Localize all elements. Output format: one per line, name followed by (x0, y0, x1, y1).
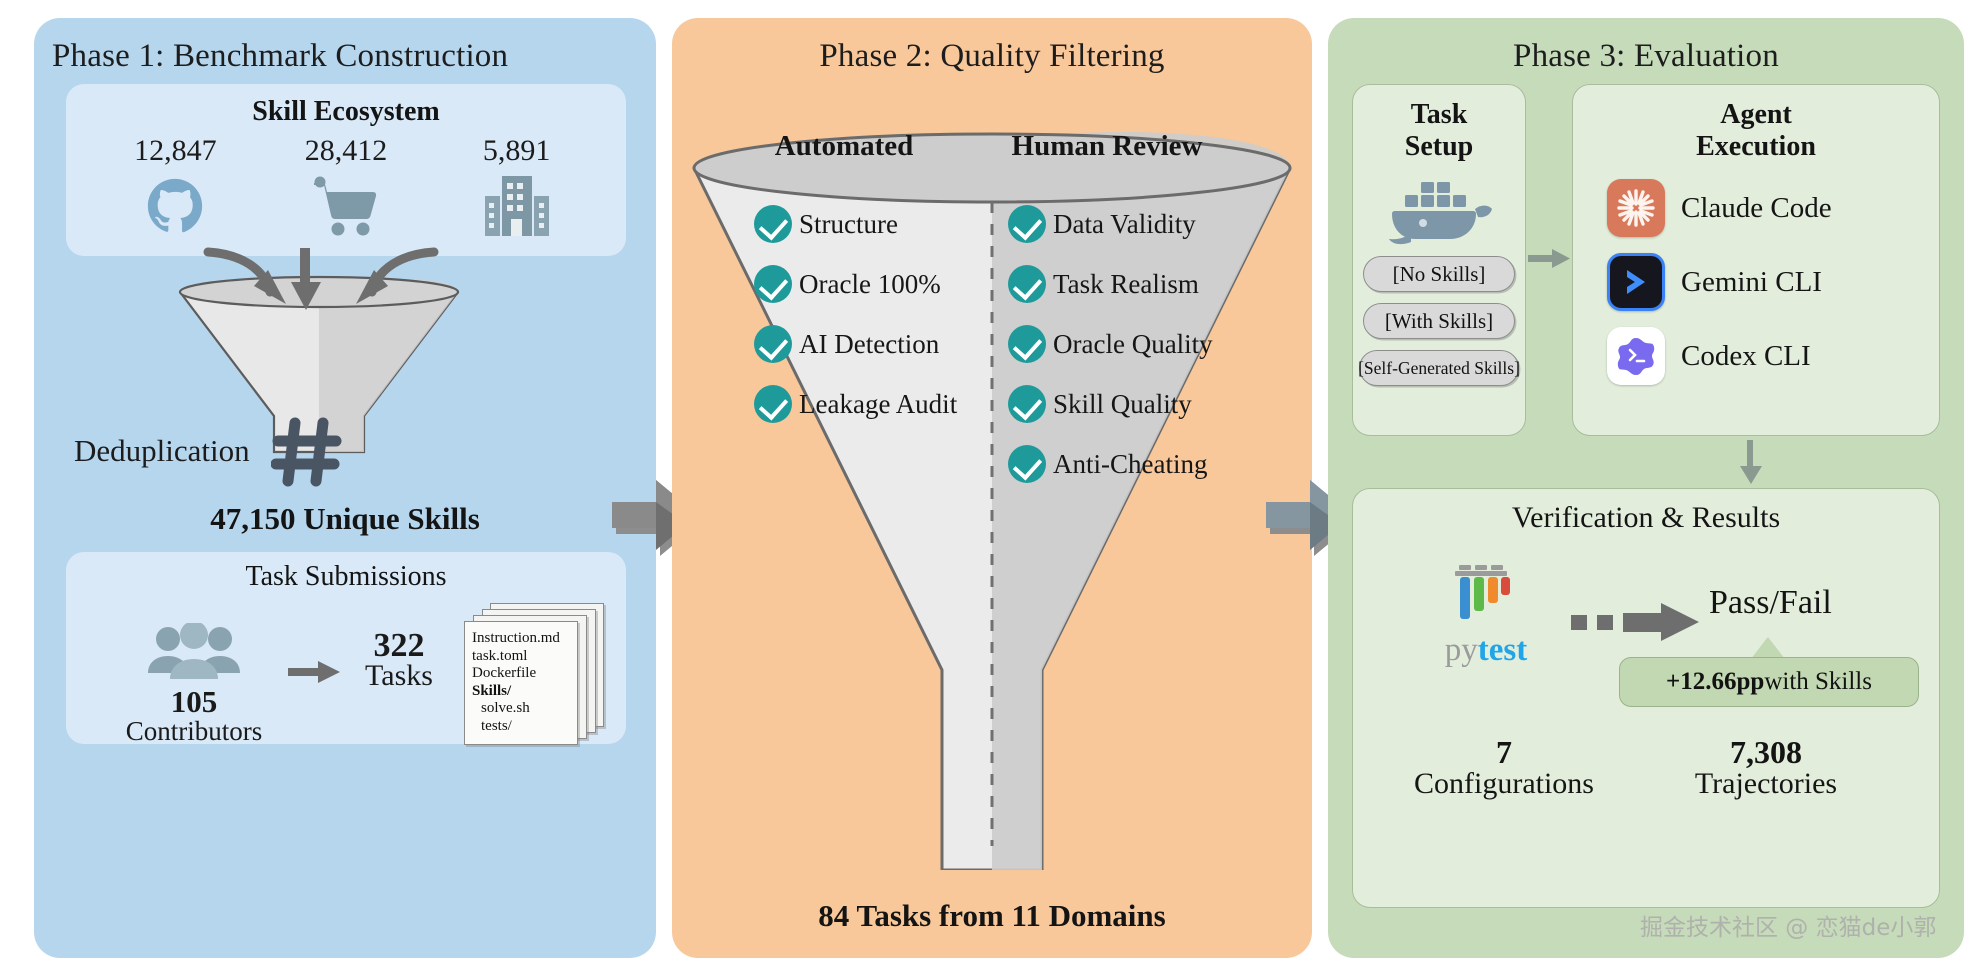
hash-icon (271, 416, 343, 488)
file-item: Instruction.md (472, 630, 577, 648)
check-label: Data Validity (1053, 209, 1196, 240)
skill-pill-self-generated-skills[interactable]: [Self-Generated Skills] (1359, 350, 1519, 386)
agent-execution-title-line2: Execution (1573, 131, 1939, 163)
gain-badge: +12.66pp with Skills (1619, 657, 1919, 707)
gain-callout-pointer (1751, 637, 1785, 659)
agent-name: Claude Code (1681, 192, 1832, 225)
check-item: AI Detection (754, 324, 1004, 364)
skill-pill-no-skills[interactable]: [No Skills] (1363, 256, 1515, 292)
phase-1-panel: Phase 1: Benchmark Construction Skill Ec… (34, 18, 656, 958)
check-item: Leakage Audit (754, 384, 1004, 424)
check-circle-icon (754, 265, 792, 303)
check-label: Anti-Cheating (1053, 449, 1207, 480)
agent-execution-card: Agent Execution (1572, 84, 1940, 436)
skill-source-row: 12,847 28,412 (66, 134, 626, 242)
file-item: Dockerfile (472, 665, 577, 683)
verification-results-card: Verification & Results pytest (1352, 488, 1940, 908)
check-label: Oracle Quality (1053, 329, 1213, 360)
check-circle-icon (1008, 205, 1046, 243)
check-circle-icon (754, 205, 792, 243)
skill-source-github: 12,847 (100, 134, 250, 242)
small-right-arrow-icon (1528, 248, 1570, 270)
check-item: Oracle Quality (1008, 324, 1268, 364)
down-arrow-icon (1738, 440, 1764, 486)
check-label: AI Detection (799, 329, 939, 360)
enterprise-count: 5,891 (442, 134, 592, 168)
task-submissions-title: Task Submissions (66, 561, 626, 593)
github-count: 12,847 (100, 134, 250, 168)
pytest-name-part1: py (1445, 632, 1478, 668)
watermark: 掘金技术社区 @ 恋猫de小郭 (1640, 908, 1936, 942)
check-item: Oracle 100% (754, 264, 1004, 304)
phase-3-title: Phase 3: Evaluation (1328, 38, 1964, 75)
dotted-right-arrow-icon (1571, 601, 1699, 643)
phase-2-panel: Phase 2: Quality Filtering Automated Hum… (672, 18, 1312, 958)
check-circle-icon (754, 325, 792, 363)
marketplace-count: 28,412 (271, 134, 421, 168)
task-setup-title-line2: Setup (1353, 131, 1525, 163)
right-arrow-icon (288, 659, 340, 685)
codex-blob-icon (1607, 327, 1665, 385)
automated-check-list: Structure Oracle 100% AI Detection Leaka… (754, 204, 1004, 444)
contributors-block: 105 Contributors (104, 623, 284, 747)
agent-name: Gemini CLI (1681, 266, 1822, 299)
pytest-name-part2: test (1478, 632, 1527, 668)
phase-2-title: Phase 2: Quality Filtering (672, 38, 1312, 75)
people-group-icon (146, 623, 242, 681)
agent-execution-title-line1: Agent (1573, 99, 1939, 131)
skill-ecosystem-card: Skill Ecosystem 12,847 28,412 (66, 84, 626, 256)
gain-suffix: with Skills (1764, 668, 1872, 696)
configurations-label: Configurations (1389, 767, 1619, 801)
check-item: Anti-Cheating (1008, 444, 1268, 484)
quality-funnel: Automated Human Review Structure Oracle … (672, 110, 1312, 870)
task-setup-title-line1: Task (1353, 99, 1525, 131)
file-list: Instruction.md task.toml Dockerfile Skil… (465, 622, 577, 735)
phase-3-panel: Phase 3: Evaluation Task Setup (1328, 18, 1964, 958)
check-circle-icon (1008, 385, 1046, 423)
agent-row-gemini-cli[interactable]: Gemini CLI (1607, 253, 1939, 311)
diagram-root: Phase 1: Benchmark Construction Skill Ec… (0, 0, 1982, 972)
check-circle-icon (1008, 445, 1046, 483)
agent-name: Codex CLI (1681, 340, 1811, 373)
tasks-label: Tasks (334, 659, 464, 693)
file-sheet-front: Instruction.md task.toml Dockerfile Skil… (464, 621, 578, 745)
task-submissions-card: Task Submissions 105 Contributors (66, 552, 626, 744)
skill-source-enterprise: 5,891 (442, 134, 592, 242)
task-submissions-body: 105 Contributors 322 Tasks (66, 593, 626, 743)
check-label: Skill Quality (1053, 389, 1192, 420)
agent-execution-title: Agent Execution (1573, 99, 1939, 163)
shopping-cart-icon (271, 170, 421, 242)
pytest-wordmark: pytest (1411, 632, 1561, 669)
file-item: Skills/ (472, 683, 577, 701)
check-item: Data Validity (1008, 204, 1268, 244)
pytest-logo-icon (1451, 561, 1521, 623)
check-label: Oracle 100% (799, 269, 941, 300)
trajectories-label: Trajectories (1641, 767, 1891, 801)
gain-value: +12.66pp (1666, 668, 1764, 696)
stat-trajectories: 7,308 Trajectories (1641, 734, 1891, 801)
automated-column-header: Automated (724, 130, 964, 163)
check-item: Task Realism (1008, 264, 1268, 304)
check-circle-icon (1008, 265, 1046, 303)
file-item: solve.sh (472, 700, 577, 718)
github-icon (100, 170, 250, 242)
check-item: Structure (754, 204, 1004, 244)
human-review-check-list: Data Validity Task Realism Oracle Qualit… (1008, 204, 1268, 504)
claude-starburst-icon (1607, 179, 1665, 237)
verification-title: Verification & Results (1353, 501, 1939, 535)
human-review-column-header: Human Review (972, 130, 1242, 163)
unique-skills-total: 47,150 Unique Skills (34, 501, 656, 537)
contributors-count: 105 (104, 684, 284, 720)
stat-configurations: 7 Configurations (1389, 734, 1619, 801)
check-circle-icon (1008, 325, 1046, 363)
skill-ecosystem-title: Skill Ecosystem (66, 96, 626, 128)
trajectories-count: 7,308 (1641, 734, 1891, 771)
configurations-count: 7 (1389, 734, 1619, 771)
task-file-stack: Instruction.md task.toml Dockerfile Skil… (464, 603, 614, 745)
task-setup-card: Task Setup (1352, 84, 1526, 436)
file-item: tests/ (472, 718, 577, 736)
input-arrow-center (289, 246, 323, 316)
skill-pill-with-skills[interactable]: [With Skills] (1363, 303, 1515, 339)
check-label: Task Realism (1053, 269, 1199, 300)
docker-whale-icon (1353, 175, 1525, 245)
gemini-terminal-icon (1607, 253, 1665, 311)
check-label: Leakage Audit (799, 389, 957, 420)
deduplication-label: Deduplication (74, 433, 250, 469)
phase-1-title: Phase 1: Benchmark Construction (34, 38, 656, 75)
skill-source-marketplace: 28,412 (271, 134, 421, 242)
check-circle-icon (754, 385, 792, 423)
phase-2-summary: 84 Tasks from 11 Domains (672, 898, 1312, 934)
agent-row-codex-cli[interactable]: Codex CLI (1607, 327, 1939, 385)
tasks-block: 322 Tasks (334, 627, 464, 693)
enterprise-building-icon (442, 170, 592, 242)
file-item: task.toml (472, 648, 577, 666)
check-item: Skill Quality (1008, 384, 1268, 424)
check-label: Structure (799, 209, 898, 240)
input-arrow-right (350, 246, 440, 316)
pytest-block: pytest (1411, 561, 1561, 669)
agent-row-claude-code[interactable]: Claude Code (1607, 179, 1939, 237)
task-setup-title: Task Setup (1353, 99, 1525, 163)
contributors-label: Contributors (104, 716, 284, 747)
pass-fail-outcome: Pass/Fail (1709, 584, 1832, 622)
input-arrow-left (202, 246, 292, 316)
